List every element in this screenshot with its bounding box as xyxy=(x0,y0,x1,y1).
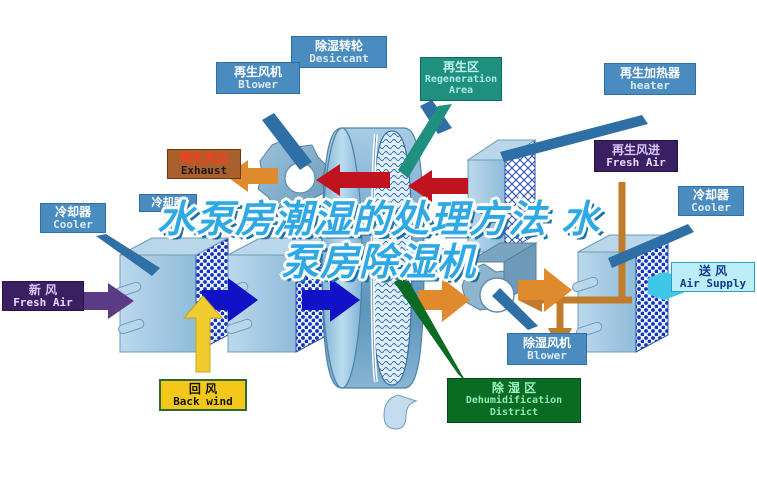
label-cooler-mid: 冷却器 xyxy=(139,194,197,212)
dehumidifier-schematic-image: XT xyxy=(0,0,757,488)
regen-heater-unit xyxy=(468,140,535,252)
label-regen-fresh-air-en: Fresh Air xyxy=(595,157,677,169)
label-regen-heater-en: heater xyxy=(605,80,695,92)
label-regen-area: 再生区 Regeneration Area xyxy=(420,57,502,101)
label-regen-area-cn: 再生区 xyxy=(423,61,499,74)
label-regen-fresh-air-cn: 再生风进 xyxy=(595,144,677,157)
label-back-wind-en: Back wind xyxy=(161,396,245,408)
label-cooler-right-cn: 冷却器 xyxy=(679,189,743,202)
label-dehum-district: 除 湿 区 Dehumidification District xyxy=(447,378,581,423)
label-cooler-right-en: Cooler xyxy=(679,202,743,214)
label-desiccant-wheel-en: Desiccant xyxy=(292,53,386,65)
label-regen-exhaust-cn: 再生风出 xyxy=(168,152,240,165)
label-regen-heater-cn: 再生加热器 xyxy=(605,67,695,80)
label-dehum-district-en: Dehumidification District xyxy=(448,395,580,419)
label-air-supply: 送 风 Air Supply xyxy=(671,262,755,292)
label-cooler-left-cn: 冷却器 xyxy=(41,206,105,219)
label-cooler-right: 冷却器 Cooler xyxy=(678,186,744,216)
label-dehum-district-cn: 除 湿 区 xyxy=(448,382,580,395)
label-back-wind: 回 风 Back wind xyxy=(159,379,247,411)
label-regen-blower-cn: 再生风机 xyxy=(217,66,299,79)
label-fresh-air-in-cn: 新 风 xyxy=(3,284,83,297)
label-cooler-left-en: Cooler xyxy=(41,219,105,231)
label-fresh-air-in: 新 风 Fresh Air xyxy=(2,281,84,311)
label-regen-fresh-air: 再生风进 Fresh Air xyxy=(594,140,678,172)
label-air-supply-en: Air Supply xyxy=(672,278,754,290)
label-regen-blower: 再生风机 Blower xyxy=(216,62,300,94)
label-back-wind-cn: 回 风 xyxy=(161,383,245,396)
label-regen-exhaust: 再生风出 Exhaust xyxy=(167,149,241,179)
label-cooler-mid-cn: 冷却器 xyxy=(140,197,196,209)
label-dehum-blower: 除湿风机 Blower xyxy=(507,333,587,365)
label-fresh-air-in-en: Fresh Air xyxy=(3,297,83,309)
label-air-supply-cn: 送 风 xyxy=(672,265,754,278)
label-regen-exhaust-en: Exhaust xyxy=(168,165,240,177)
label-dehum-blower-en: Blower xyxy=(508,350,586,362)
label-desiccant-wheel-cn: 除湿转轮 xyxy=(292,40,386,53)
label-cooler-left: 冷却器 Cooler xyxy=(40,203,106,233)
label-regen-area-en: Regeneration Area xyxy=(423,74,499,97)
label-regen-blower-en: Blower xyxy=(217,79,299,91)
label-regen-heater: 再生加热器 heater xyxy=(604,63,696,95)
label-dehum-blower-cn: 除湿风机 xyxy=(508,337,586,350)
label-desiccant-wheel: 除湿转轮 Desiccant xyxy=(291,36,387,68)
